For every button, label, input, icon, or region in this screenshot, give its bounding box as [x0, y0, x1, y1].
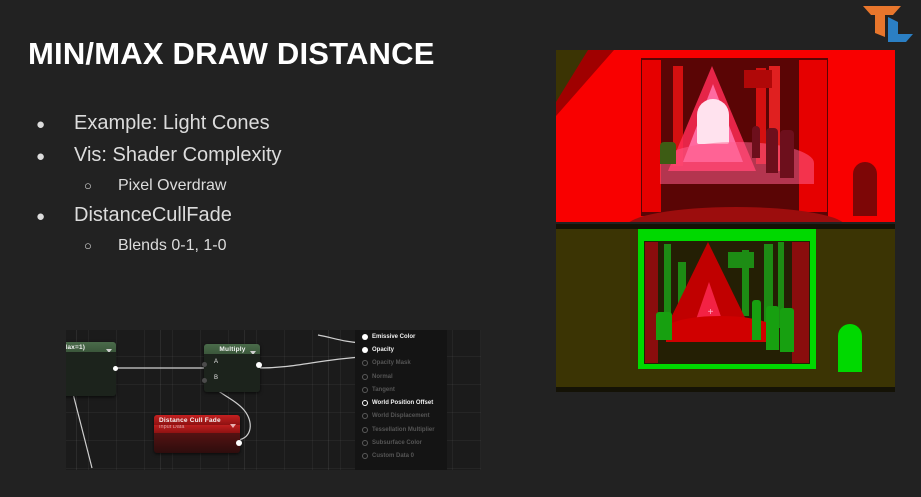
pin-label: Custom Data 0: [372, 453, 414, 459]
viewport-shader-complexity-red: [556, 44, 895, 222]
distance-cull-fade-subtitle: Input Data: [154, 424, 240, 433]
pin-label: Opacity: [372, 347, 394, 353]
bullet-marker-icon: ○: [84, 232, 118, 260]
corridor-post: [645, 242, 658, 363]
pin-label: World Position Offset: [372, 400, 433, 406]
door-prop: [853, 162, 877, 216]
multiply-input-b-pin[interactable]: [202, 378, 207, 383]
distance-cull-fade-body: [154, 433, 240, 453]
pin-dot-subsurface-color[interactable]: [362, 440, 368, 446]
list-item: ● DistanceCullFade: [28, 200, 528, 232]
multiply-output-pin[interactable]: [256, 362, 262, 368]
plant-prop: [656, 312, 672, 340]
pin-dot-tessellation-multiplier[interactable]: [362, 427, 368, 433]
pin-dot-opacity[interactable]: [362, 347, 368, 353]
character-figure: [766, 306, 779, 350]
distance-cull-fade-node[interactable]: Distance Cull Fade Input Data: [154, 415, 240, 453]
pin-dot-opacity-mask[interactable]: [362, 360, 368, 366]
tl-logo: [857, 4, 915, 44]
material-pin-row[interactable]: Subsurface Color: [355, 436, 447, 449]
multiply-node[interactable]: Multiply A B: [204, 344, 260, 392]
presentation-slide: MIN/MAX DRAW DISTANCE ● Example: Light C…: [0, 0, 921, 497]
character-figure: [780, 308, 794, 352]
pin-label: Normal: [372, 374, 393, 380]
bullet-marker-icon: ●: [36, 202, 74, 232]
list-item-label: DistanceCullFade: [74, 200, 232, 230]
character-figure: [766, 128, 778, 173]
bullet-list: ● Example: Light Cones ● Vis: Shader Com…: [28, 108, 528, 260]
door-prop: [838, 324, 862, 372]
bullet-marker-icon: ●: [36, 110, 74, 140]
material-pin-row[interactable]: Custom Data 0: [355, 450, 447, 463]
pin-dot-emissive-color[interactable]: [362, 334, 368, 340]
material-pin-row[interactable]: Opacity Mask: [355, 357, 447, 370]
corridor-post: [792, 242, 809, 363]
clamp-output-pin[interactable]: [113, 366, 118, 371]
material-pin-row[interactable]: Tessellation Multiplier: [355, 423, 447, 436]
multiply-input-b-label: B: [214, 375, 218, 381]
page-title: MIN/MAX DRAW DISTANCE: [28, 36, 435, 72]
list-item: ● Vis: Shader Complexity: [28, 140, 528, 172]
material-pin-row[interactable]: Tangent: [355, 383, 447, 396]
letterbox-bar: [556, 387, 895, 392]
multiply-input-a-label: A: [214, 359, 218, 365]
corner-olive-wedge: [556, 50, 588, 102]
multiply-node-body: A B: [204, 354, 260, 392]
bullet-marker-icon: ●: [36, 142, 74, 172]
pin-dot-world-position-offset[interactable]: [362, 400, 368, 406]
material-pin-row[interactable]: Opacity: [355, 343, 447, 356]
material-node-graph[interactable]: ) (Max=1) Multiply A B Distance Cull Fad…: [66, 330, 481, 470]
corridor-wall-left: [642, 60, 661, 212]
list-item-label: Vis: Shader Complexity: [74, 140, 282, 170]
light-cone-core: [697, 99, 729, 144]
plant-prop: [660, 142, 676, 164]
logo-l-shape: [888, 17, 913, 42]
pin-dot-custom-data-0[interactable]: [362, 453, 368, 459]
bullet-marker-icon: ○: [84, 172, 118, 200]
material-pin-row[interactable]: World Displacement: [355, 410, 447, 423]
viewport-images: +: [556, 44, 895, 392]
clamp-node-body: [66, 352, 116, 396]
pin-dot-normal[interactable]: [362, 374, 368, 380]
list-item: ● Example: Light Cones: [28, 108, 528, 140]
character-figure: [752, 300, 761, 340]
pin-dot-world-displacement[interactable]: [362, 413, 368, 419]
character-figure: [752, 126, 760, 158]
clamp-node[interactable]: ) (Max=1): [66, 342, 116, 396]
pin-label: Tessellation Multiplier: [372, 427, 435, 433]
tl-logo-svg: [857, 4, 915, 44]
pin-label: World Displacement: [372, 413, 430, 419]
material-pin-row[interactable]: Normal: [355, 370, 447, 383]
corridor-wall-right: [799, 60, 827, 212]
pin-label: Emissive Color: [372, 334, 415, 340]
material-output-node[interactable]: Emissive Color Opacity Opacity Mask Norm…: [355, 330, 447, 470]
material-pin-row[interactable]: Emissive Color: [355, 330, 447, 343]
material-pin-row[interactable]: World Position Offset: [355, 396, 447, 409]
pin-label: Tangent: [372, 387, 395, 393]
list-item-label: Pixel Overdraw: [118, 172, 226, 200]
viewport-shader-complexity-green: +: [556, 224, 895, 392]
list-item-label: Blends 0-1, 1-0: [118, 232, 227, 260]
pin-dot-tangent[interactable]: [362, 387, 368, 393]
chevron-down-icon[interactable]: [230, 424, 236, 428]
distance-cull-fade-title: Distance Cull Fade: [154, 415, 240, 425]
list-item: ○ Blends 0-1, 1-0: [28, 232, 528, 260]
multiply-input-a-pin[interactable]: [202, 362, 207, 367]
character-figure: [780, 130, 794, 178]
pin-label: Subsurface Color: [372, 440, 422, 446]
pin-label: Opacity Mask: [372, 360, 411, 366]
list-item-label: Example: Light Cones: [74, 108, 270, 138]
crosshair-icon: +: [706, 308, 715, 317]
distance-cull-fade-output-pin[interactable]: [236, 440, 242, 446]
list-item: ○ Pixel Overdraw: [28, 172, 528, 200]
